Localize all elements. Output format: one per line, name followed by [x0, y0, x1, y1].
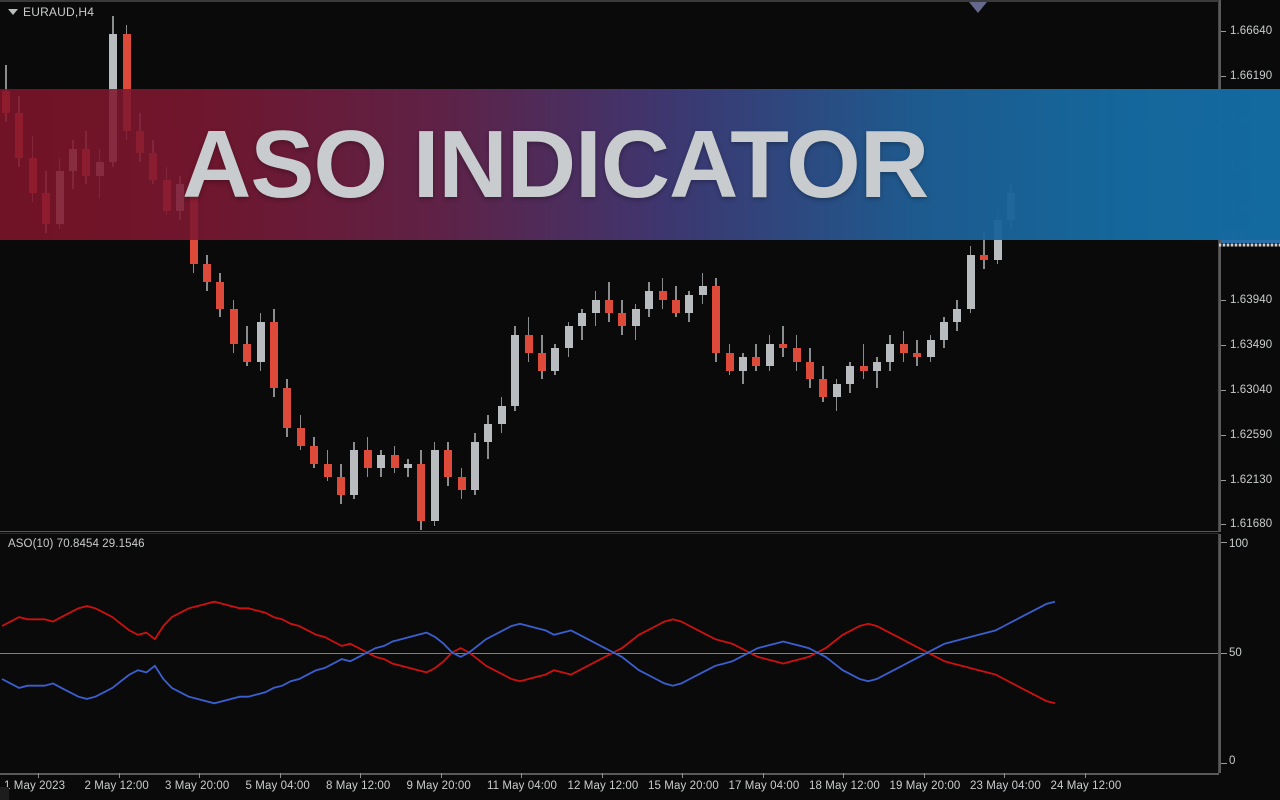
candle	[967, 0, 975, 532]
candle-body	[873, 362, 881, 371]
time-axis-label: 5 May 04:00	[246, 780, 310, 792]
candle	[42, 0, 50, 532]
time-tick	[682, 773, 683, 778]
candle-body	[297, 428, 305, 446]
candle	[685, 0, 693, 532]
candle	[766, 0, 774, 532]
candle	[337, 0, 345, 532]
indicator-pane[interactable]	[0, 534, 1219, 773]
indicator-tick	[1221, 542, 1227, 543]
candle-body	[712, 286, 720, 353]
candle	[471, 0, 479, 532]
candle	[712, 0, 720, 532]
candle-body	[726, 353, 734, 371]
candle-body	[672, 300, 680, 313]
candle	[551, 0, 559, 532]
time-tick	[441, 773, 442, 778]
candle	[913, 0, 921, 532]
candlestick-series	[0, 0, 1219, 532]
price-axis-label: 1.66190	[1230, 70, 1272, 82]
candle-body	[605, 300, 613, 313]
candle-body	[578, 313, 586, 326]
time-axis-label: 15 May 20:00	[648, 780, 719, 792]
candle	[404, 0, 412, 532]
candle	[190, 0, 198, 532]
candle-body	[632, 309, 640, 327]
candle-body	[806, 362, 814, 380]
candle	[136, 0, 144, 532]
candle	[230, 0, 238, 532]
candle-body	[431, 450, 439, 521]
time-tick	[199, 773, 200, 778]
price-tick	[1221, 300, 1226, 301]
candle	[96, 0, 104, 532]
triangle-down-marker-icon[interactable]	[969, 2, 987, 13]
candle-body	[592, 300, 600, 313]
candle-body	[659, 291, 667, 300]
candle	[163, 0, 171, 532]
indicator-tick	[1221, 763, 1227, 764]
candle	[806, 0, 814, 532]
price-axis-label: 1.63040	[1230, 384, 1272, 396]
candle-body	[846, 366, 854, 384]
candle-body	[484, 424, 492, 442]
candle-body	[645, 291, 653, 309]
candle-body	[283, 388, 291, 428]
candle-body	[618, 313, 626, 326]
candle	[538, 0, 546, 532]
candle	[431, 0, 439, 532]
candle	[297, 0, 305, 532]
candle-body	[913, 353, 921, 357]
candle	[498, 0, 506, 532]
time-axis[interactable]: 1 May 20232 May 12:003 May 20:005 May 04…	[0, 773, 1280, 800]
candle	[873, 0, 881, 532]
price-tag-stripe	[1219, 244, 1280, 247]
time-tick	[602, 773, 603, 778]
candle-body	[444, 450, 452, 477]
price-axis-label: 1.63490	[1230, 339, 1272, 351]
candle	[860, 0, 868, 532]
time-tick	[843, 773, 844, 778]
candle-body	[458, 477, 466, 490]
candle-body	[927, 340, 935, 358]
candle	[846, 0, 854, 532]
price-tick	[1221, 480, 1226, 481]
candle-wick	[407, 459, 409, 477]
candle	[310, 0, 318, 532]
candle-body	[900, 344, 908, 353]
candle-body	[819, 379, 827, 397]
candle-body	[565, 326, 573, 348]
time-axis-label: 18 May 12:00	[809, 780, 880, 792]
time-tick	[1085, 773, 1086, 778]
candle	[833, 0, 841, 532]
candle-body	[699, 286, 707, 295]
candle-body	[511, 335, 519, 406]
candle	[819, 0, 827, 532]
candle-body	[391, 455, 399, 468]
candle	[2, 0, 10, 532]
candle-body	[766, 344, 774, 366]
candle	[927, 0, 935, 532]
candle	[270, 0, 278, 532]
time-tick	[38, 773, 39, 778]
banner-title: ASO INDICATOR	[0, 117, 928, 213]
candle-body	[940, 322, 948, 340]
candle	[203, 0, 211, 532]
candle-body	[779, 344, 787, 348]
candle	[940, 0, 948, 532]
price-axis-line	[1219, 0, 1221, 532]
indicator-axis-line	[1219, 534, 1221, 773]
time-tick	[280, 773, 281, 778]
time-axis-label: 3 May 20:00	[165, 780, 229, 792]
candle	[672, 0, 680, 532]
candle-body	[551, 348, 559, 370]
candle	[243, 0, 251, 532]
chevron-down-icon[interactable]	[8, 9, 18, 15]
candle	[632, 0, 640, 532]
candle	[123, 0, 131, 532]
candle-body	[203, 264, 211, 282]
candle	[605, 0, 613, 532]
candle-body	[953, 309, 961, 322]
candle-body	[967, 255, 975, 308]
time-axis-rule	[0, 773, 1219, 775]
price-axis-label: 1.63940	[1230, 294, 1272, 306]
candle	[377, 0, 385, 532]
time-tick	[763, 773, 764, 778]
candle	[176, 0, 184, 532]
candle-body	[270, 322, 278, 389]
price-tick	[1221, 31, 1226, 32]
indicator-tick	[1221, 653, 1227, 654]
candle-body	[471, 442, 479, 491]
price-tick	[1221, 76, 1226, 77]
candle	[980, 0, 988, 532]
candle	[458, 0, 466, 532]
candle-body	[833, 384, 841, 397]
candle-body	[243, 344, 251, 362]
candle-body	[980, 255, 988, 259]
candle	[391, 0, 399, 532]
time-axis-label: 9 May 20:00	[407, 780, 471, 792]
candle	[82, 0, 90, 532]
time-axis-label: 24 May 12:00	[1051, 780, 1122, 792]
pane-separator[interactable]	[0, 531, 1219, 532]
candle	[1007, 0, 1015, 532]
candle-body	[525, 335, 533, 353]
candle	[525, 0, 533, 532]
promo-banner: ASO INDICATOR	[0, 89, 1280, 240]
candle	[56, 0, 64, 532]
aso-line-bulls	[2, 602, 1055, 704]
candle-body	[377, 455, 385, 468]
candle	[900, 0, 908, 532]
candle	[109, 0, 117, 532]
candle	[592, 0, 600, 532]
indicator-axis[interactable]: 100500	[1219, 534, 1280, 773]
candle	[578, 0, 586, 532]
indicator-axis-label: 50	[1229, 647, 1242, 659]
candle-body	[417, 464, 425, 522]
candle-wick	[782, 326, 784, 357]
time-tick	[360, 773, 361, 778]
candle	[216, 0, 224, 532]
candle	[953, 0, 961, 532]
candle-body	[230, 309, 238, 344]
candle	[511, 0, 519, 532]
candle	[69, 0, 77, 532]
candle-body	[324, 464, 332, 477]
price-tick	[1221, 390, 1226, 391]
time-axis-label: 12 May 12:00	[568, 780, 639, 792]
price-axis-label: 1.62590	[1230, 429, 1272, 441]
candle-body	[310, 446, 318, 464]
candle	[779, 0, 787, 532]
candle	[417, 0, 425, 532]
candle-body	[404, 464, 412, 468]
candle-body	[793, 348, 801, 361]
price-axis-label: 1.62130	[1230, 474, 1272, 486]
candle-body	[216, 282, 224, 309]
candle	[444, 0, 452, 532]
candle	[793, 0, 801, 532]
candle	[283, 0, 291, 532]
candle	[324, 0, 332, 532]
indicator-axis-label: 100	[1229, 538, 1248, 550]
price-axis[interactable]: 1.666401.661901.657401.652901.648401.639…	[1219, 0, 1280, 532]
candle-wick	[863, 344, 865, 379]
time-axis-label: 8 May 12:00	[326, 780, 390, 792]
candle	[15, 0, 23, 532]
price-tick	[1221, 345, 1226, 346]
candle	[726, 0, 734, 532]
time-tick	[521, 773, 522, 778]
candle-body	[498, 406, 506, 424]
candle-body	[739, 357, 747, 370]
candle-body	[860, 366, 868, 370]
candle-body	[538, 353, 546, 371]
time-axis-label: 11 May 04:00	[487, 780, 557, 792]
candle	[350, 0, 358, 532]
time-axis-label: 23 May 04:00	[970, 780, 1041, 792]
candle	[699, 0, 707, 532]
axis-corner-block	[0, 787, 9, 800]
time-axis-label: 17 May 04:00	[729, 780, 800, 792]
aso-oscillator-lines	[0, 534, 1219, 773]
candle	[659, 0, 667, 532]
candle	[484, 0, 492, 532]
candle	[752, 0, 760, 532]
pane-top-rule	[0, 0, 1219, 2]
trading-terminal-window: EURAUD,H4 1.666401.661901.657401.652901.…	[0, 0, 1280, 800]
price-axis-label: 1.66640	[1230, 25, 1272, 37]
price-axis-label: 1.61680	[1230, 518, 1272, 530]
candle	[149, 0, 157, 532]
candle	[29, 0, 37, 532]
candle-body	[886, 344, 894, 362]
candle	[257, 0, 265, 532]
candle	[618, 0, 626, 532]
symbol-text: EURAUD,H4	[23, 5, 94, 19]
candle	[364, 0, 372, 532]
candle	[994, 0, 1002, 532]
time-axis-label: 2 May 12:00	[85, 780, 149, 792]
time-axis-label: 1 May 2023	[4, 780, 65, 792]
candle	[645, 0, 653, 532]
candle-body	[685, 295, 693, 313]
aso-line-bears	[2, 602, 1055, 704]
candle	[565, 0, 573, 532]
price-chart-pane[interactable]: EURAUD,H4	[0, 0, 1219, 532]
candle-body	[752, 357, 760, 366]
price-tick	[1221, 435, 1226, 436]
candle-body	[337, 477, 345, 495]
candle-body	[257, 322, 265, 362]
candle-body	[364, 450, 372, 468]
candle-body	[350, 450, 358, 494]
time-tick	[924, 773, 925, 778]
candle	[739, 0, 747, 532]
indicator-axis-label: 0	[1229, 755, 1235, 767]
price-tick	[1221, 524, 1226, 525]
indicator-label: ASO(10) 70.8454 29.1546	[8, 538, 145, 550]
candle	[886, 0, 894, 532]
time-axis-label: 19 May 20:00	[890, 780, 961, 792]
time-tick	[1004, 773, 1005, 778]
symbol-label[interactable]: EURAUD,H4	[8, 5, 94, 19]
time-tick	[119, 773, 120, 778]
